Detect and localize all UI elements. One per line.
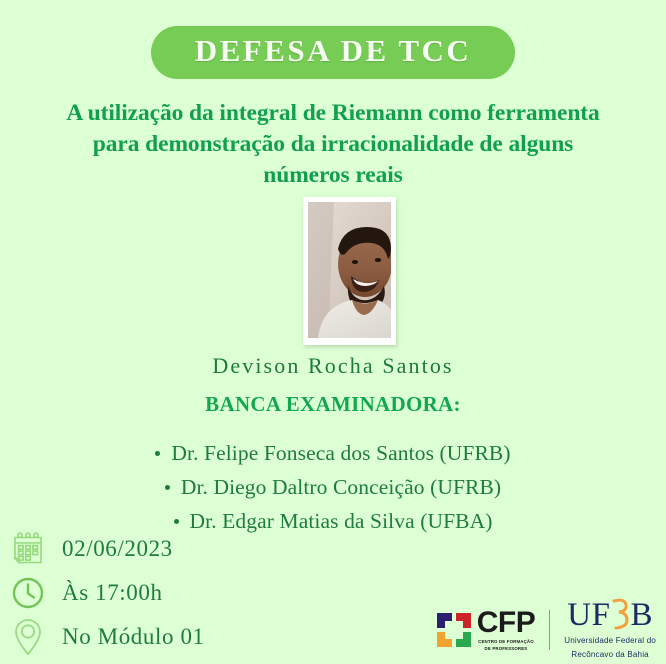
- logo-divider: [549, 610, 550, 650]
- event-location-row: No Módulo 01: [8, 615, 205, 659]
- event-date-row: 02/06/2023: [8, 527, 173, 571]
- event-date-text: 02/06/2023: [62, 536, 173, 562]
- cfp-mark-icon: [434, 610, 474, 650]
- examining-board-heading: BANCA EXAMINADORA:: [0, 392, 666, 417]
- calendar-icon: [8, 529, 48, 569]
- presenter-photo-frame: [303, 197, 396, 345]
- cfp-subtitle-line-2: DE PROFESSORES: [477, 646, 536, 652]
- location-pin-icon: [8, 617, 48, 657]
- list-item: Dr. Felipe Fonseca dos Santos (UFRB): [0, 437, 666, 471]
- page-title: A utilização da integral de Riemann como…: [0, 98, 666, 191]
- bullet-icon: [155, 451, 160, 456]
- event-location-text: No Módulo 01: [62, 624, 205, 650]
- examiner-name: Dr. Edgar Matias da Silva (UFBA): [190, 509, 493, 533]
- page-title-line-3: números reais: [4, 160, 662, 191]
- institution-logos: CFP CENTRO DE FORMAÇÃO DE PROFESSORES UF…: [434, 602, 656, 658]
- examiner-name: Dr. Felipe Fonseca dos Santos (UFRB): [171, 441, 510, 465]
- event-time-text: Às 17:00h: [62, 580, 163, 606]
- list-item: Dr. Diego Daltro Conceição (UFRB): [0, 471, 666, 505]
- ufrb-subtitle-line-1: Universidade Federal do: [564, 636, 656, 647]
- cfp-logo: CFP CENTRO DE FORMAÇÃO DE PROFESSORES: [434, 609, 536, 651]
- banner-pill: DEFESA DE TCC: [151, 26, 516, 79]
- page-title-line-2: para demonstração da irracionalidade de …: [4, 129, 662, 160]
- ufrb-subtitle-line-2: Recôncavo da Bahia: [564, 650, 656, 661]
- presenter-name: Devison Rocha Santos: [0, 353, 666, 379]
- clock-icon: [8, 573, 48, 613]
- cfp-letters: CFP: [477, 608, 536, 638]
- cfp-wordmark: CFP CENTRO DE FORMAÇÃO DE PROFESSORES: [477, 608, 536, 652]
- defense-banner: DEFESA DE TCC: [0, 26, 666, 79]
- page-title-line-1: A utilização da integral de Riemann como…: [4, 98, 662, 129]
- banner-label: DEFESA DE TCC: [195, 33, 472, 68]
- presenter-photo: [308, 202, 391, 338]
- ufrb-wordmark: UFB: [564, 599, 656, 633]
- ufrb-letters-b: B: [630, 597, 653, 633]
- ufrb-letters-uf: UF: [567, 597, 610, 633]
- cfp-subtitle-line-1: CENTRO DE FORMAÇÃO: [477, 639, 536, 645]
- bullet-icon: [165, 485, 170, 490]
- event-time-row: Às 17:00h: [8, 571, 163, 615]
- ufrb-logo: UFB Universidade Federal do Recôncavo da…: [564, 599, 656, 660]
- examiner-name: Dr. Diego Daltro Conceição (UFRB): [181, 475, 501, 499]
- examining-board-list: Dr. Felipe Fonseca dos Santos (UFRB) Dr.…: [0, 437, 666, 539]
- bullet-icon: [174, 519, 179, 524]
